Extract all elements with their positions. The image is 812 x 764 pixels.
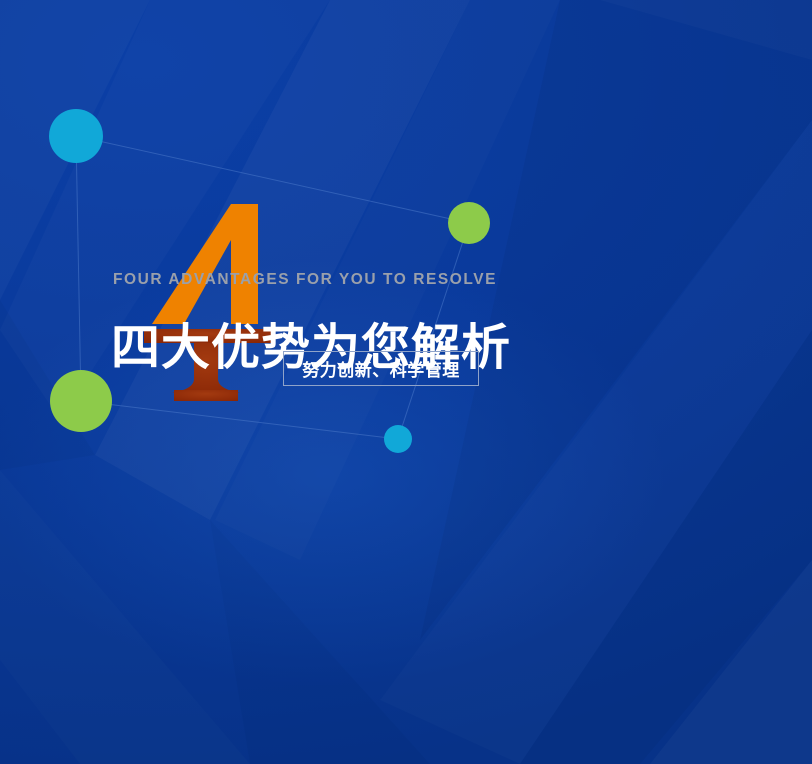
banner-content: FOUR ADVANTAGES FOR YOU TO RESOLVE 四大优势为… xyxy=(0,0,812,764)
eyebrow-text: FOUR ADVANTAGES FOR YOU TO RESOLVE xyxy=(113,272,497,288)
tagline-box: 努力创新、科学管理 xyxy=(283,351,479,386)
four-trophy-logo-icon xyxy=(136,196,296,408)
tagline-text: 努力创新、科学管理 xyxy=(302,356,460,381)
logo-numeral-four xyxy=(152,204,258,324)
banner-root: FOUR ADVANTAGES FOR YOU TO RESOLVE 四大优势为… xyxy=(0,0,812,764)
